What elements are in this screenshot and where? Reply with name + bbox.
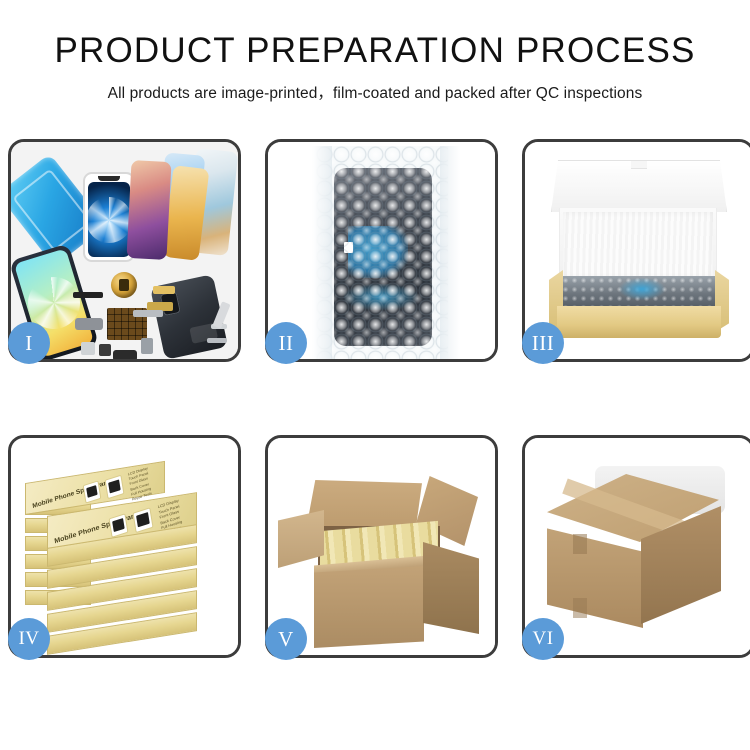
step-4-image-clip: Mobile Phone Spare Parts LCD Display Tou… <box>11 438 238 655</box>
carton-front-face <box>314 566 424 648</box>
step-6-image-clip <box>525 438 750 655</box>
wrap-edge-left <box>312 146 332 359</box>
speaker-coil-icon <box>111 272 137 298</box>
retail-box-screen-image <box>105 475 125 500</box>
step-3-image-clip <box>525 142 750 359</box>
process-step-grid: I II <box>8 139 742 658</box>
process-step-panel-1: I <box>8 139 241 362</box>
wrap-edge-right <box>440 146 460 359</box>
step-badge-2: II <box>265 322 307 364</box>
step-badge-4: IV <box>8 618 50 660</box>
process-step-panel-5: V <box>265 435 498 658</box>
step-1-illustration <box>11 142 238 359</box>
spare-part-icon <box>133 310 163 317</box>
page-title: PRODUCT PREPARATION PROCESS <box>0 30 750 72</box>
step-3-illustration <box>525 142 750 359</box>
screwdriver-icon <box>207 338 227 343</box>
foam-liner <box>563 212 713 278</box>
wrapped-contents <box>561 276 717 308</box>
mailer-box-lid <box>551 160 727 212</box>
spare-part-icon <box>141 338 153 354</box>
retail-box-screen-image <box>132 507 153 533</box>
process-step-panel-6: VI <box>522 435 750 658</box>
step-4-illustration: Mobile Phone Spare Parts LCD Display Tou… <box>11 438 238 655</box>
packing-tape-mark <box>573 598 587 618</box>
step-1-image-clip <box>11 142 238 359</box>
process-step-panel-4: Mobile Phone Spare Parts LCD Display Tou… <box>8 435 241 658</box>
spare-part-icon <box>99 344 111 356</box>
step-badge-3: III <box>522 322 564 364</box>
mailer-box-front <box>557 306 721 338</box>
spare-part-icon <box>81 342 95 355</box>
notch-icon <box>98 176 120 181</box>
phone-purple-icon <box>126 160 171 260</box>
spare-part-icon <box>113 350 137 359</box>
glass-display-graphic <box>88 182 130 257</box>
retail-box-screen-image <box>109 513 129 538</box>
step-badge-5: V <box>265 618 307 660</box>
step-badge-6: VI <box>522 618 564 660</box>
product-preparation-page: PRODUCT PREPARATION PROCESS All products… <box>0 0 750 750</box>
retail-box-screen-image <box>83 480 102 503</box>
process-step-panel-2: II <box>265 139 498 362</box>
packing-tape-mark <box>573 534 587 554</box>
step-2-illustration <box>268 142 495 359</box>
spare-part-icon <box>73 292 103 298</box>
page-header: PRODUCT PREPARATION PROCESS All products… <box>0 30 750 103</box>
step-5-illustration <box>268 438 495 655</box>
spare-part-icon <box>75 318 103 330</box>
retail-box-checklist: LCD Display Touch Panel Front Glass Back… <box>128 466 153 502</box>
step-2-image-clip <box>268 142 495 359</box>
step-6-illustration <box>525 438 750 655</box>
page-subtitle: All products are image-printed，film-coat… <box>0 81 750 103</box>
step-5-image-clip <box>268 438 495 655</box>
flex-cable-icon <box>153 286 175 294</box>
step-badge-1: I <box>8 322 50 364</box>
process-step-panel-3: III <box>522 139 750 362</box>
carton-side-face <box>423 542 479 634</box>
bubble-texture-offset <box>316 146 448 359</box>
